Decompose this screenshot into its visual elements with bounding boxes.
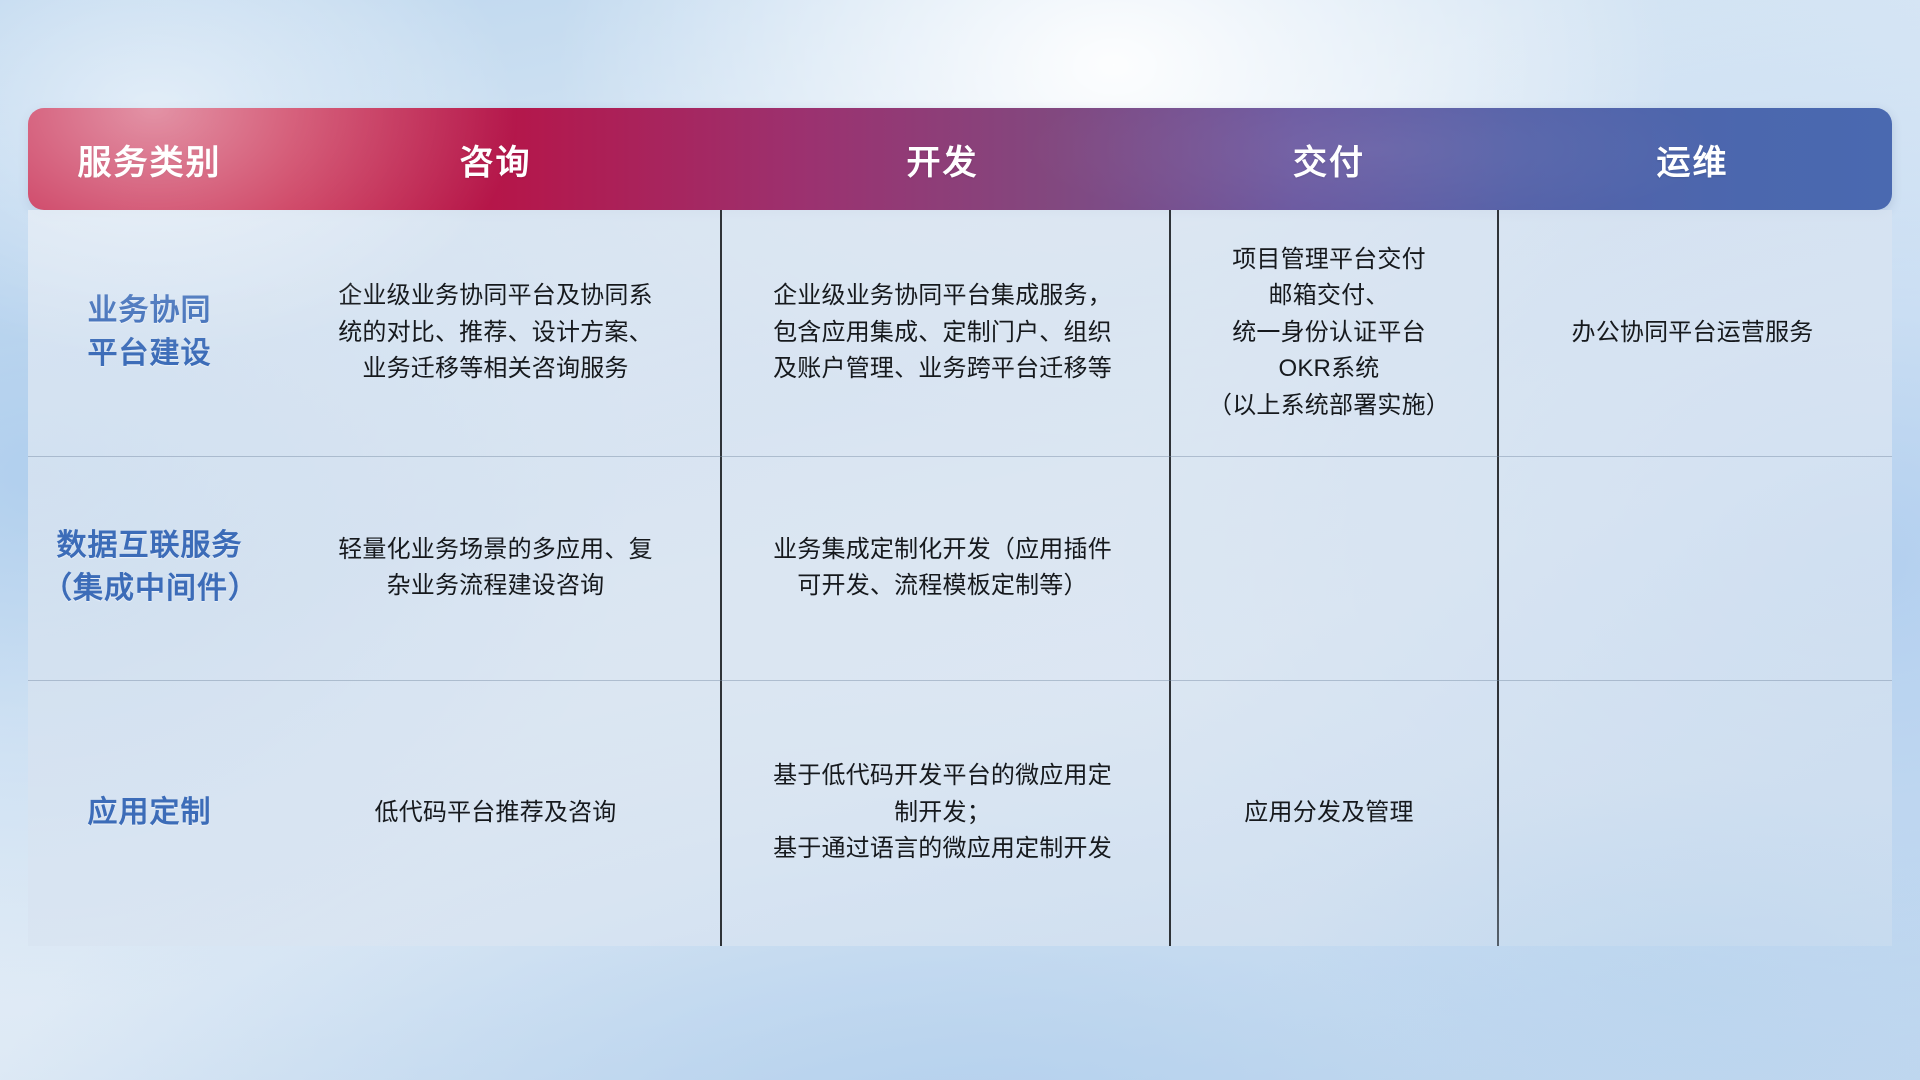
cell-operations: [1493, 680, 1892, 946]
cell-consulting: 轻量化业务场景的多应用、复 杂业务流程建设咨询: [271, 456, 720, 680]
cell-delivery: 项目管理平台交付 邮箱交付、 统一身份认证平台 OKR系统 （以上系统部署实施）: [1165, 210, 1493, 456]
column-header-development: 开发: [720, 135, 1165, 184]
table-row: 业务协同 平台建设 企业级业务协同平台及协同系 统的对比、推荐、设计方案、 业务…: [28, 210, 1892, 456]
service-category-table: 服务类别 咨询 开发 交付 运维 业务协同 平台建设 企业级业务协同平台及协同系…: [28, 108, 1892, 946]
cell-text-development: 企业级业务协同平台集成服务， 包含应用集成、定制门户、组织 及账户管理、业务跨平…: [773, 278, 1112, 387]
cell-operations: 办公协同平台运营服务: [1493, 210, 1892, 456]
cell-development: 业务集成定制化开发（应用插件 可开发、流程模板定制等）: [720, 456, 1165, 680]
column-header-operations: 运维: [1493, 135, 1892, 184]
cell-text-development: 业务集成定制化开发（应用插件 可开发、流程模板定制等）: [773, 532, 1112, 605]
cell-category: 数据互联服务 （集成中间件）: [28, 456, 271, 680]
cell-text-delivery: 应用分发及管理: [1244, 795, 1413, 831]
cell-consulting: 企业级业务协同平台及协同系 统的对比、推荐、设计方案、 业务迁移等相关咨询服务: [271, 210, 720, 456]
cell-operations: [1493, 456, 1892, 680]
column-header-delivery: 交付: [1165, 135, 1493, 184]
category-label: 数据互联服务 （集成中间件）: [42, 525, 257, 610]
table-header-row: 服务类别 咨询 开发 交付 运维: [28, 108, 1892, 210]
cell-text-delivery: 项目管理平台交付 邮箱交付、 统一身份认证平台 OKR系统 （以上系统部署实施）: [1208, 242, 1450, 424]
category-label: 业务协同 平台建设: [88, 290, 212, 375]
cell-category: 业务协同 平台建设: [28, 210, 271, 456]
page-background: 服务类别 咨询 开发 交付 运维 业务协同 平台建设 企业级业务协同平台及协同系…: [0, 0, 1920, 1080]
cell-text-consulting: 轻量化业务场景的多应用、复 杂业务流程建设咨询: [338, 532, 653, 605]
table-row: 数据互联服务 （集成中间件） 轻量化业务场景的多应用、复 杂业务流程建设咨询 业…: [28, 456, 1892, 680]
category-label: 应用定制: [88, 792, 212, 835]
cell-text-development: 基于低代码开发平台的微应用定 制开发； 基于通过语言的微应用定制开发: [773, 758, 1112, 867]
table-body: 业务协同 平台建设 企业级业务协同平台及协同系 统的对比、推荐、设计方案、 业务…: [28, 210, 1892, 946]
cell-development: 基于低代码开发平台的微应用定 制开发； 基于通过语言的微应用定制开发: [720, 680, 1165, 946]
table-row: 应用定制 低代码平台推荐及咨询 基于低代码开发平台的微应用定 制开发； 基于通过…: [28, 680, 1892, 946]
cell-delivery: [1165, 456, 1493, 680]
cell-text-operations: 办公协同平台运营服务: [1572, 315, 1814, 351]
cell-category: 应用定制: [28, 680, 271, 946]
cell-text-consulting: 低代码平台推荐及咨询: [375, 795, 617, 831]
cell-text-consulting: 企业级业务协同平台及协同系 统的对比、推荐、设计方案、 业务迁移等相关咨询服务: [338, 278, 653, 387]
cell-consulting: 低代码平台推荐及咨询: [271, 680, 720, 946]
cell-delivery: 应用分发及管理: [1165, 680, 1493, 946]
column-header-category: 服务类别: [28, 135, 271, 184]
cell-development: 企业级业务协同平台集成服务， 包含应用集成、定制门户、组织 及账户管理、业务跨平…: [720, 210, 1165, 456]
column-header-consulting: 咨询: [271, 135, 720, 184]
